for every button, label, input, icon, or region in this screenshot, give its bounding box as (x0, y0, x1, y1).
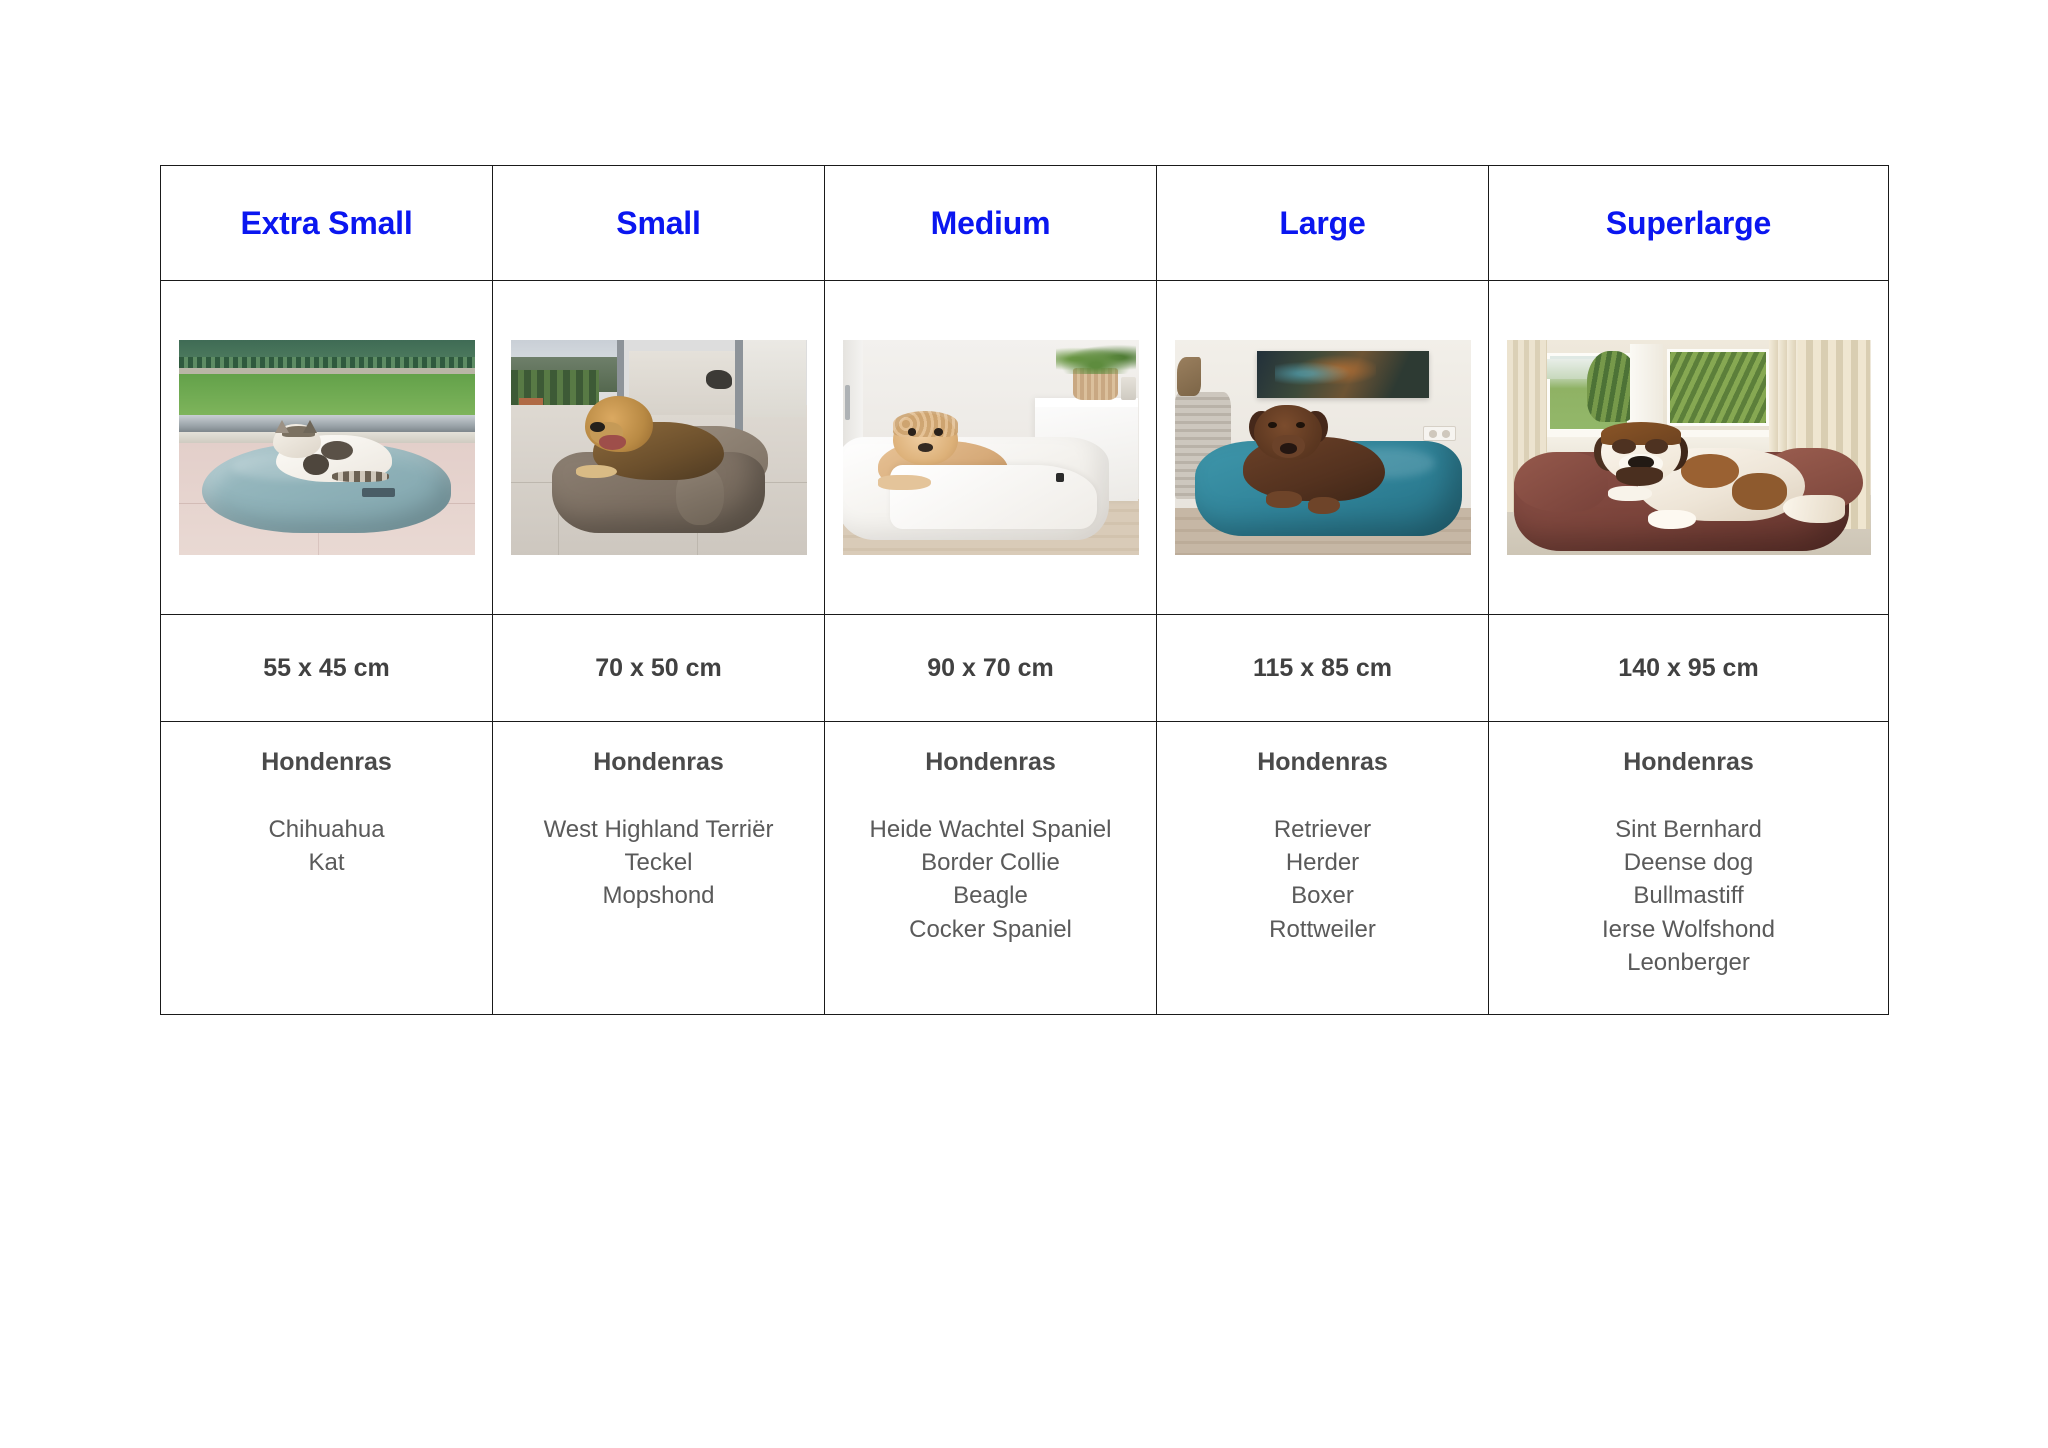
size-label-superlarge: Superlarge (1489, 166, 1888, 280)
breed-item: Leonberger (1489, 946, 1888, 979)
breed-title-large: Hondenras (1157, 749, 1488, 777)
photo-bed-brand-label (362, 488, 395, 497)
photo-dog-eye-left (1268, 422, 1277, 428)
breed-list-small: West Highland Terriër Teckel Mopshond (493, 813, 824, 913)
cell-photo-small (493, 281, 825, 615)
photo-socket-outlet-left (1429, 430, 1437, 437)
photo-interior-wall (741, 340, 806, 417)
breed-list-large: Retriever Herder Boxer Rottweiler (1157, 813, 1488, 946)
dimensions-large: 115 x 85 cm (1157, 615, 1488, 721)
size-label-extra-small: Extra Small (161, 166, 492, 280)
breed-item: Chihuahua (161, 813, 492, 846)
photo-dog-coat-patch-one (1681, 454, 1739, 488)
breed-list-medium: Heide Wachtel Spaniel Border Collie Beag… (825, 813, 1156, 946)
photo-large-labrador-on-bed (1175, 340, 1471, 555)
photo-medium-cockapoo-on-bed (843, 340, 1139, 555)
breed-item: Beagle (825, 879, 1156, 912)
photo-dog-curly-fur (893, 411, 958, 437)
cell-dimensions-extra-small: 55 x 45 cm (161, 615, 493, 722)
photo-candle (1121, 377, 1136, 401)
breed-item: Heide Wachtel Spaniel (825, 813, 1156, 846)
breed-item: Border Collie (825, 846, 1156, 879)
cell-dimensions-medium: 90 x 70 cm (825, 615, 1157, 722)
photo-patio-object (706, 370, 733, 389)
photo-superlarge-saint-bernard-on-bed (1507, 340, 1871, 555)
cell-breeds-large: Hondenras Retriever Herder Boxer Rottwei… (1157, 722, 1489, 1015)
photo-dog-nose (1280, 443, 1298, 454)
cell-photo-superlarge (1489, 281, 1889, 615)
photo-artwork-detail (1275, 355, 1376, 392)
breed-list-superlarge: Sint Bernhard Deense dog Bullmastiff Ier… (1489, 813, 1888, 980)
photo-dog-eye-left (908, 428, 917, 436)
breed-title-superlarge: Hondenras (1489, 749, 1888, 777)
dimensions-small: 70 x 50 cm (493, 615, 824, 721)
cell-breeds-medium: Hondenras Heide Wachtel Spaniel Border C… (825, 722, 1157, 1015)
breed-item: Kat (161, 846, 492, 879)
photo-dog-paw (576, 465, 617, 478)
photo-bed-tag (1056, 473, 1065, 482)
breed-item: Cocker Spaniel (825, 913, 1156, 946)
cell-header-superlarge: Superlarge (1489, 166, 1889, 281)
cell-breeds-small: Hondenras West Highland Terriër Teckel M… (493, 722, 825, 1015)
product-photo-row (161, 281, 1889, 615)
photo-dog-coat-patch-two (1732, 473, 1787, 510)
dimension-row: 55 x 45 cm 70 x 50 cm 90 x 70 cm 115 x 8… (161, 615, 1889, 722)
photo-dog-tail (1783, 495, 1845, 523)
photo-dog-eye-right (934, 428, 943, 436)
cell-dimensions-superlarge: 140 x 95 cm (1489, 615, 1889, 722)
cell-photo-extra-small (161, 281, 493, 615)
photo-extra-small-cat-on-bed (179, 340, 475, 555)
breed-item: Mopshond (493, 879, 824, 912)
breed-title-small: Hondenras (493, 749, 824, 777)
cell-breeds-superlarge: Hondenras Sint Bernhard Deense dog Bullm… (1489, 722, 1889, 1015)
photo-cat-ear-right (303, 420, 317, 433)
breed-item: Teckel (493, 846, 824, 879)
photo-dog-eye-patch-right (1645, 439, 1669, 454)
photo-small-terrier-on-bed (511, 340, 807, 555)
cell-breeds-extra-small: Hondenras Chihuahua Kat (161, 722, 493, 1015)
photo-cat-ear-left (275, 420, 289, 433)
breed-item: Herder (1157, 846, 1488, 879)
photo-dog-paw-right (1308, 497, 1341, 514)
cell-header-medium: Medium (825, 166, 1157, 281)
photo-lawn (179, 374, 475, 417)
photo-dog-open-mouth (599, 435, 626, 450)
photo-dog-eye-patch-left (1612, 439, 1636, 454)
breed-row: Hondenras Chihuahua Kat Hondenras West H… (161, 722, 1889, 1015)
photo-cat-tail (332, 471, 388, 482)
photo-window-right-hedge (1667, 349, 1769, 426)
photo-decorative-branch (1177, 357, 1201, 396)
breed-item: Boxer (1157, 879, 1488, 912)
cell-dimensions-large: 115 x 85 cm (1157, 615, 1489, 722)
size-label-large: Large (1157, 166, 1488, 280)
breed-item: Bullmastiff (1489, 879, 1888, 912)
photo-bed-flap (890, 465, 1097, 530)
breed-item: Retriever (1157, 813, 1488, 846)
photo-dog-paw-left (1266, 491, 1302, 508)
photo-dog-eye-right (1296, 422, 1305, 428)
breed-item: West Highland Terriër (493, 813, 824, 846)
cell-photo-large (1157, 281, 1489, 615)
cell-header-small: Small (493, 166, 825, 281)
photo-houseplant (1056, 344, 1136, 374)
photo-dog-paw-front (1648, 510, 1695, 529)
dog-bed-size-table: Extra Small Small Medium Large Superlarg… (160, 165, 1889, 1015)
cell-photo-medium (825, 281, 1157, 615)
breed-item: Deense dog (1489, 846, 1888, 879)
size-header-row: Extra Small Small Medium Large Superlarg… (161, 166, 1889, 281)
photo-door-handle (845, 385, 849, 419)
cell-header-extra-small: Extra Small (161, 166, 493, 281)
photo-bed-bolster-left (1514, 452, 1609, 512)
breed-title-extra-small: Hondenras (161, 749, 492, 777)
dimensions-extra-small: 55 x 45 cm (161, 615, 492, 721)
photo-dog-paw-back (1608, 486, 1652, 501)
dimensions-superlarge: 140 x 95 cm (1489, 615, 1888, 721)
photo-socket-outlet-right (1442, 430, 1450, 437)
photo-wall-socket (1423, 426, 1456, 441)
breed-item: Ierse Wolfshond (1489, 913, 1888, 946)
breed-item: Sint Bernhard (1489, 813, 1888, 846)
page-canvas: Extra Small Small Medium Large Superlarg… (0, 0, 2048, 1448)
cell-dimensions-small: 70 x 50 cm (493, 615, 825, 722)
size-label-small: Small (493, 166, 824, 280)
breed-item: Rottweiler (1157, 913, 1488, 946)
cell-header-large: Large (1157, 166, 1489, 281)
breed-list-extra-small: Chihuahua Kat (161, 813, 492, 880)
photo-dog-nose (918, 443, 933, 452)
dimensions-medium: 90 x 70 cm (825, 615, 1156, 721)
size-label-medium: Medium (825, 166, 1156, 280)
breed-title-medium: Hondenras (825, 749, 1156, 777)
